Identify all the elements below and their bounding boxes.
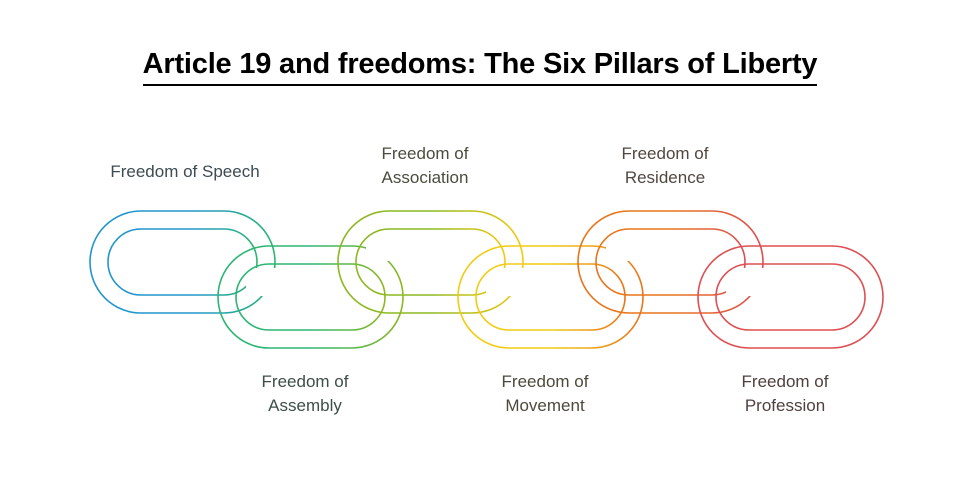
chain-link-2 — [218, 246, 403, 348]
chain-label-assembly: Freedom of Assembly — [210, 370, 400, 418]
chain-link-4 — [458, 246, 643, 348]
chain-link-5 — [578, 211, 763, 313]
chain-label-speech: Freedom of Speech — [40, 160, 330, 184]
chain-label-profession: Freedom of Profession — [690, 370, 880, 418]
chain-label-movement: Freedom of Movement — [450, 370, 640, 418]
chain-label-residence: Freedom of Residence — [570, 142, 760, 190]
chain-link-6 — [698, 246, 883, 348]
slide-canvas: Article 19 and freedoms: The Six Pillars… — [0, 0, 960, 485]
chain-link-3 — [338, 211, 523, 313]
chain-label-association: Freedom of Association — [330, 142, 520, 190]
chain-link-1 — [90, 211, 275, 313]
